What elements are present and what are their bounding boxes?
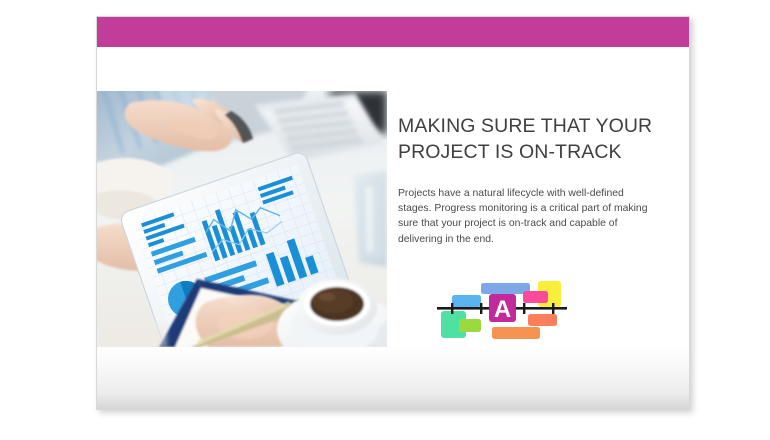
gradient-footer-band: [97, 344, 690, 409]
slide-canvas: MAKING SURE THAT YOUR PROJECT IS ON-TRAC…: [0, 0, 770, 440]
magenta-header-band: [97, 17, 690, 47]
gantt-bar-orange-bottom: [492, 327, 540, 339]
gantt-bar-orange-right: [528, 314, 557, 326]
text-column: MAKING SURE THAT YOUR PROJECT IS ON-TRAC…: [398, 113, 658, 247]
body-paragraph: Projects have a natural lifecycle with w…: [398, 186, 658, 247]
gantt-bar-lime: [459, 319, 481, 332]
slide: MAKING SURE THAT YOUR PROJECT IS ON-TRAC…: [96, 16, 690, 410]
gantt-chart-icon: A: [430, 267, 580, 352]
gantt-bar-blue-wide: [481, 283, 530, 294]
gantt-badge-letter: A: [494, 296, 511, 323]
gantt-bar-pink: [523, 291, 548, 303]
slide-photo: [97, 91, 387, 347]
gantt-center-badge: A: [489, 294, 516, 323]
gantt-bar-blue-small: [452, 295, 481, 307]
page-title: MAKING SURE THAT YOUR PROJECT IS ON-TRAC…: [398, 113, 658, 165]
